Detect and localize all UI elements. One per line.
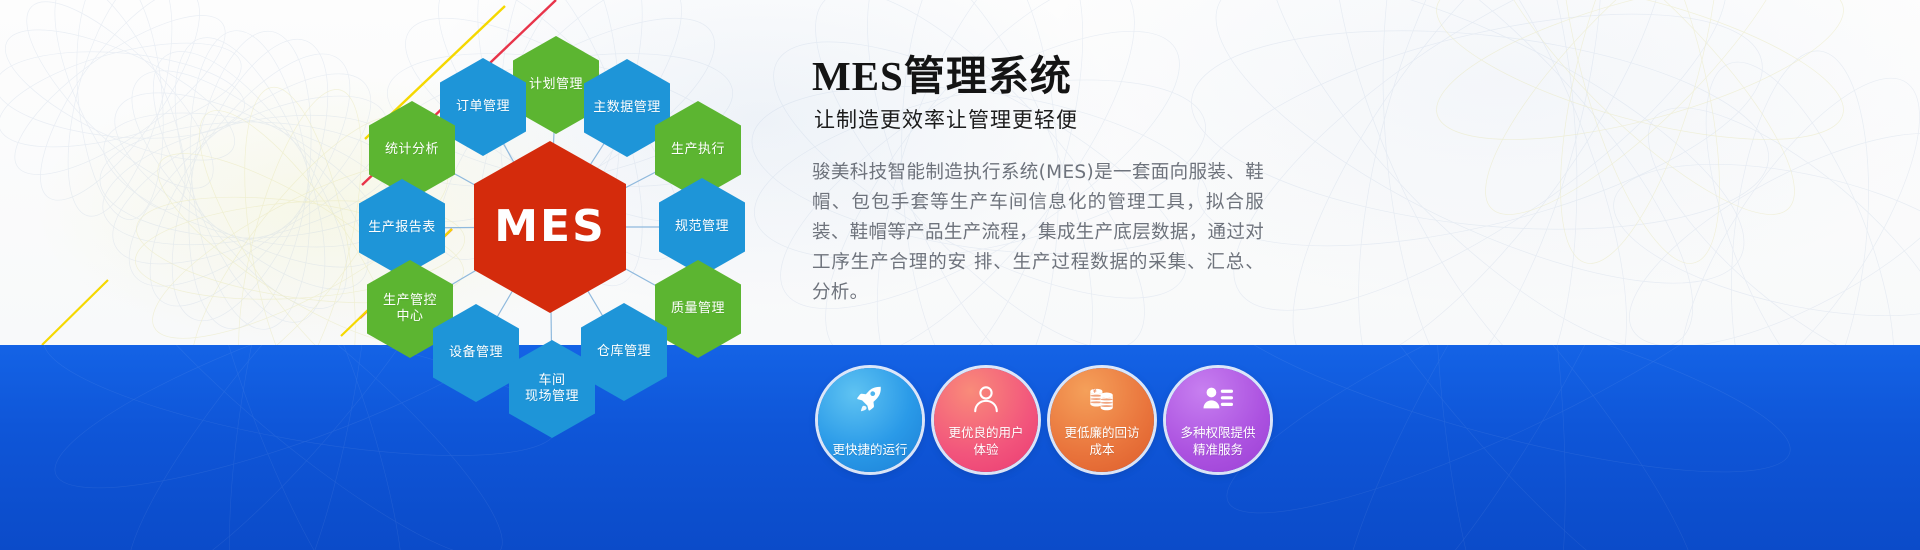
feature-badge-list: 更快捷的运行 更优良的用户 体验 [818,368,1270,472]
badge-better-user-experience[interactable]: 更优良的用户 体验 [934,368,1038,472]
hex-center-label: MES [490,219,610,235]
coins-icon: ¥ [1050,382,1154,416]
hex-label: 仓库管理 [593,344,655,360]
hex-label: 规范管理 [671,219,733,235]
hex-label: 设备管理 [445,345,507,361]
page-title: MES管理系统 [812,50,1332,102]
rocket-icon [818,382,922,416]
hero-text-block: MES管理系统 让制造更效率让管理更轻便 骏美科技智能制造执行系统(MES)是一… [812,50,1332,308]
hex-label: 生产管控 中心 [379,293,441,325]
badge-caption: 多种权限提供 精准服务 [1170,424,1266,458]
hex-label: 生产执行 [667,142,729,158]
page-subtitle: 让制造更效率让管理更轻便 [814,106,1332,134]
user-icon [934,382,1038,416]
badge-lower-revisit-cost[interactable]: ¥ 更低廉的回访 成本 [1050,368,1154,472]
svg-text:¥: ¥ [1093,388,1097,395]
badge-faster-operation[interactable]: 更快捷的运行 [818,368,922,472]
hero-description: 骏美科技智能制造执行系统(MES)是一套面向服装、鞋帽、包包手套等生产车间信息化… [812,158,1264,308]
hex-label: 生产报告表 [364,220,440,236]
badge-caption: 更快捷的运行 [822,441,918,458]
badge-caption: 更低廉的回访 成本 [1054,424,1150,458]
hex-label: 计划管理 [525,77,587,93]
hex-label: 订单管理 [452,99,514,115]
banner-root: MES 计划管理 订单管理 主数据管理 统计分析 生产执行 生产报告表 规范管理… [0,0,1920,550]
badge-caption: 更优良的用户 体验 [938,424,1034,458]
hex-label: 车间 现场管理 [521,373,583,405]
hex-label: 质量管理 [667,301,729,317]
badge-multi-permission-service[interactable]: 多种权限提供 精准服务 [1166,368,1270,472]
hex-label: 主数据管理 [589,100,665,116]
id-card-icon [1166,382,1270,416]
hex-label: 统计分析 [381,142,443,158]
mes-hexagon-diagram: MES 计划管理 订单管理 主数据管理 统计分析 生产执行 生产报告表 规范管理… [330,15,770,435]
